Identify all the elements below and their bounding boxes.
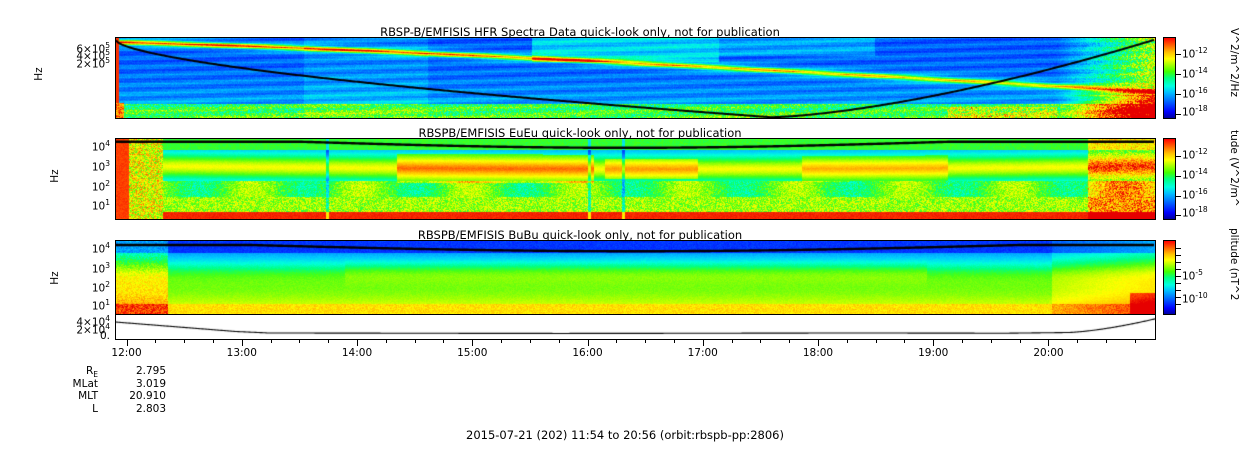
y-tick-bubu-1e4: 104 (60, 242, 110, 255)
x-minor-tick (559, 340, 560, 343)
ephemeris-row: MLat3.019 (40, 378, 230, 391)
x-minor-tick (530, 340, 531, 343)
x-major-tick (933, 340, 934, 346)
x-minor-tick (789, 340, 790, 343)
x-minor-tick (732, 340, 733, 343)
x-major-tick (357, 340, 358, 346)
x-tick-label: 13:00 (227, 347, 257, 359)
colorbar-hfr-tick-3: 10-16 (1182, 87, 1208, 100)
x-minor-tick (501, 340, 502, 343)
x-minor-tick (616, 340, 617, 343)
x-minor-tick (386, 340, 387, 343)
panel-bubu-plot (115, 240, 1156, 315)
x-minor-tick (443, 340, 444, 343)
y-tick-eueu-1e3: 103 (60, 160, 110, 173)
y-tick-bubu-1e1: 101 (60, 299, 110, 312)
x-minor-tick (876, 340, 877, 343)
x-major-tick (818, 340, 819, 346)
x-tick-label: 15:00 (457, 347, 487, 359)
x-axis-ticks (115, 340, 1156, 346)
x-minor-tick (847, 340, 848, 343)
x-minor-tick (328, 340, 329, 343)
x-minor-tick (1135, 340, 1136, 343)
ephemeris-value: 3.019 (98, 378, 166, 391)
ephemeris-key: MLT (40, 390, 98, 403)
colorbar-eueu-tick-4: 10-18 (1182, 206, 1208, 219)
spectrogram-eueu (116, 139, 1155, 219)
x-tick-label: 14:00 (342, 347, 372, 359)
y-tick-eueu-1e4: 104 (60, 140, 110, 153)
line-trace (116, 315, 1155, 339)
panel-line-plot (115, 314, 1156, 340)
x-major-tick (1048, 340, 1049, 346)
x-minor-tick (271, 340, 272, 343)
x-major-tick (703, 340, 704, 346)
x-minor-tick (991, 340, 992, 343)
ephemeris-row: RE2.795 (40, 365, 230, 378)
ephemeris-value: 2.795 (98, 365, 166, 378)
colorbar-hfr-label: V^2/m^2/Hz (1228, 28, 1240, 97)
spectrogram-bubu (116, 241, 1155, 314)
x-minor-tick (904, 340, 905, 343)
x-tick-label: 19:00 (918, 347, 948, 359)
y-tick-line-0: 0. (52, 331, 110, 342)
ephemeris-table: RE2.795MLat3.019MLT20.910L2.803 (40, 365, 230, 415)
colorbar-eueu-tick-1: 10-12 (1182, 148, 1208, 161)
x-tick-label: 16:00 (572, 347, 602, 359)
colorbar-hfr-tick-2: 10-14 (1182, 67, 1208, 80)
x-tick-label: 17:00 (688, 347, 718, 359)
x-minor-tick (1020, 340, 1021, 343)
x-minor-tick (1106, 340, 1107, 343)
colorbar-eueu-tick-2: 10-14 (1182, 168, 1208, 181)
x-minor-tick (415, 340, 416, 343)
colorbar-bubu-label: plitude (nT^2 (1228, 228, 1240, 300)
colorbar-bubu-tick-1: 10-5 (1182, 269, 1203, 282)
colorbar-eueu-tick-3: 10-16 (1182, 188, 1208, 201)
x-major-tick (127, 340, 128, 346)
colorbar-eueu-ticks (1163, 138, 1176, 220)
x-minor-tick (299, 340, 300, 343)
colorbar-eueu-label: tude (V^2/m^ (1228, 130, 1240, 207)
y-tick-eueu-1e1: 101 (60, 199, 110, 212)
y-tick-bubu-1e3: 103 (60, 262, 110, 275)
colorbar-bubu-tick-2: 10-10 (1182, 292, 1208, 305)
panel-eueu-plot (115, 138, 1156, 220)
panel-hfr-plot (115, 37, 1156, 119)
x-axis-labels: 12:0013:0014:0015:0016:0017:0018:0019:00… (115, 347, 1156, 361)
y-tick-eueu-1e2: 102 (60, 180, 110, 193)
y-tick-hfr-2e5: 2×105 (52, 57, 110, 70)
x-minor-tick (155, 340, 156, 343)
ephemeris-key: MLat (40, 378, 98, 391)
x-major-tick (588, 340, 589, 346)
ephemeris-key: L (40, 403, 98, 416)
x-minor-tick (962, 340, 963, 343)
spectrogram-hfr (116, 38, 1155, 118)
ephemeris-value: 20.910 (98, 390, 166, 403)
ephemeris-row: L2.803 (40, 403, 230, 416)
colorbar-hfr-tick-4: 10-18 (1182, 105, 1208, 118)
x-minor-tick (760, 340, 761, 343)
x-major-tick (472, 340, 473, 346)
x-minor-tick (645, 340, 646, 343)
x-tick-label: 12:00 (111, 347, 141, 359)
x-minor-tick (184, 340, 185, 343)
figure-root: RBSP-B/EMFISIS HFR Spectra Data quick-lo… (0, 0, 1250, 449)
x-major-tick (242, 340, 243, 346)
ephemeris-value: 2.803 (98, 403, 166, 416)
y-tick-bubu-1e2: 102 (60, 281, 110, 294)
colorbar-hfr-tick-1: 10-12 (1182, 47, 1208, 60)
colorbar-hfr-ticks (1163, 37, 1176, 119)
x-minor-tick (213, 340, 214, 343)
x-minor-tick (674, 340, 675, 343)
x-minor-tick (1077, 340, 1078, 343)
ephemeris-row: MLT20.910 (40, 390, 230, 403)
figure-caption: 2015-07-21 (202) 11:54 to 20:56 (orbit:r… (0, 428, 1250, 442)
y-axis-name-hfr: Hz (33, 59, 45, 89)
x-tick-label: 20:00 (1033, 347, 1063, 359)
colorbar-bubu-ticks (1163, 240, 1176, 315)
x-tick-label: 18:00 (803, 347, 833, 359)
